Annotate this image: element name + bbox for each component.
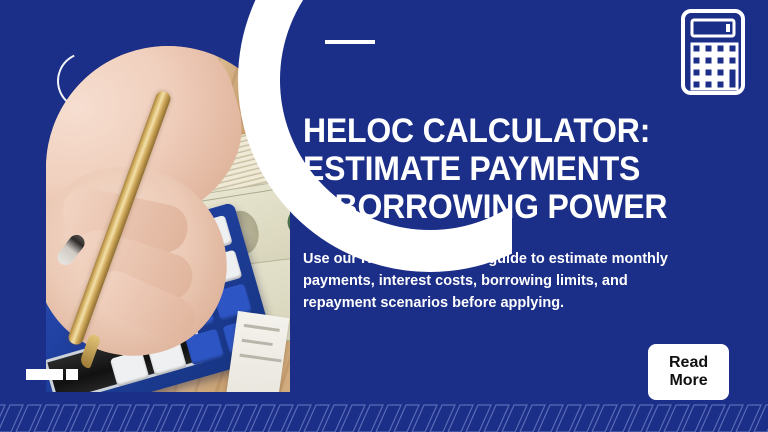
stripe	[34, 405, 59, 432]
stripe	[358, 405, 383, 432]
stripe	[250, 405, 275, 432]
stripe	[718, 405, 743, 432]
stripe	[88, 405, 113, 432]
diagonal-stripe-band	[0, 404, 768, 432]
stripe	[448, 405, 473, 432]
hero-content: HELOC CALCULATOR: ESTIMATE PAYMENTS & BO…	[303, 112, 715, 314]
white-square-decoration-icon	[66, 369, 78, 380]
stripe	[412, 405, 437, 432]
calculator-icon	[680, 8, 746, 96]
receipt-line	[240, 354, 282, 363]
stripe	[16, 405, 41, 432]
stripe	[682, 405, 707, 432]
white-line-decoration-icon	[325, 40, 375, 44]
stripe	[700, 405, 725, 432]
stripe	[520, 405, 545, 432]
stripe	[556, 405, 581, 432]
stripe	[484, 405, 509, 432]
receipt-line	[242, 339, 273, 346]
stripe	[52, 405, 77, 432]
stripe	[304, 405, 329, 432]
receipt-line	[244, 324, 280, 332]
stripe	[178, 405, 203, 432]
stripe	[70, 405, 95, 432]
stripe	[736, 405, 761, 432]
stripe	[592, 405, 617, 432]
stripe	[214, 405, 239, 432]
stripe	[664, 405, 689, 432]
stripe	[754, 405, 768, 432]
stripe	[340, 405, 365, 432]
stripe	[502, 405, 527, 432]
stripe	[574, 405, 599, 432]
stripe	[538, 405, 563, 432]
stripe	[376, 405, 401, 432]
white-block-decoration-icon	[26, 369, 63, 380]
stripe	[646, 405, 671, 432]
stripe	[466, 405, 491, 432]
page-title: HELOC CALCULATOR: ESTIMATE PAYMENTS & BO…	[303, 112, 690, 226]
stripe	[196, 405, 221, 432]
stripe	[628, 405, 653, 432]
stripe	[322, 405, 347, 432]
stripe	[394, 405, 419, 432]
stripe	[106, 405, 131, 432]
stripe	[232, 405, 257, 432]
stripe	[610, 405, 635, 432]
stripe	[124, 405, 149, 432]
stripe	[160, 405, 185, 432]
stripe	[142, 405, 167, 432]
read-more-button[interactable]: Read More	[648, 344, 729, 400]
heloc-calculator-banner: HELOC CALCULATOR: ESTIMATE PAYMENTS & BO…	[0, 0, 768, 432]
page-subtitle: Use our HELOC calculator guide to estima…	[303, 248, 675, 314]
stripe	[430, 405, 455, 432]
stripe	[286, 405, 311, 432]
stripe	[268, 405, 293, 432]
